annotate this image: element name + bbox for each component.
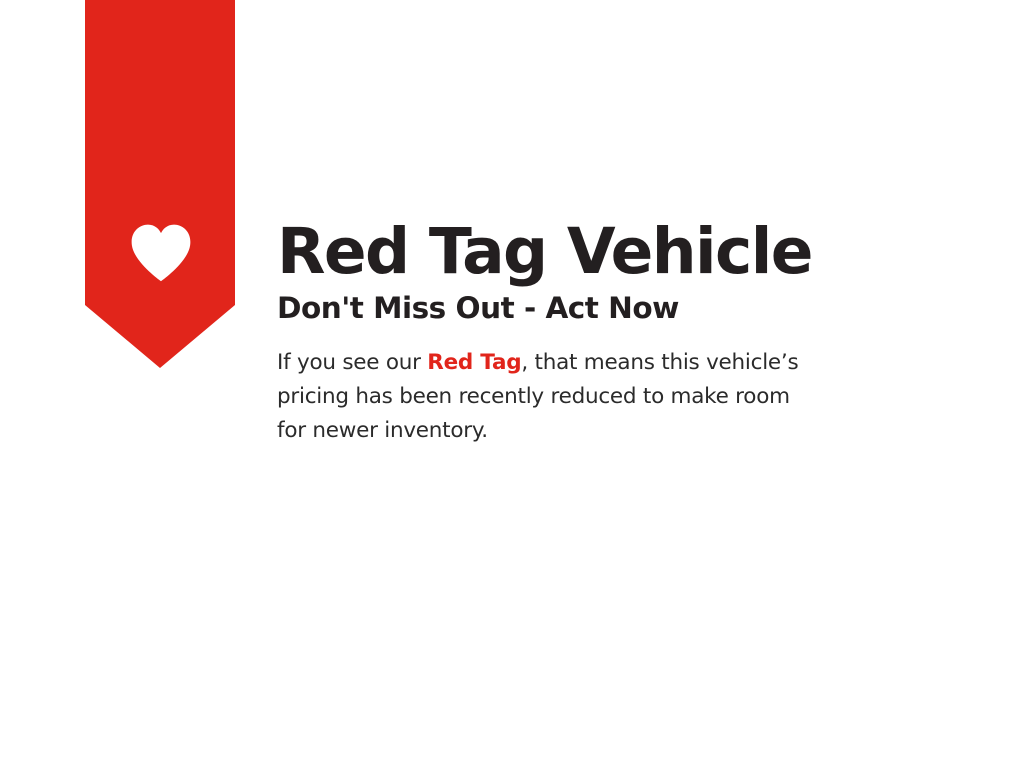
page-title: Red Tag Vehicle [277,218,837,286]
body-lead-text: If you see our [277,350,427,375]
slide-canvas: Red Tag Vehicle Don't Miss Out - Act Now… [0,0,1024,768]
red-tag-accent-text: Red Tag [427,350,521,375]
ribbon-shape [85,0,235,368]
body-paragraph: If you see our Red Tag, that means this … [277,328,817,448]
text-content: Red Tag Vehicle Don't Miss Out - Act Now… [277,218,837,448]
red-tag-ribbon [85,0,235,368]
page-subtitle: Don't Miss Out - Act Now [277,286,837,328]
